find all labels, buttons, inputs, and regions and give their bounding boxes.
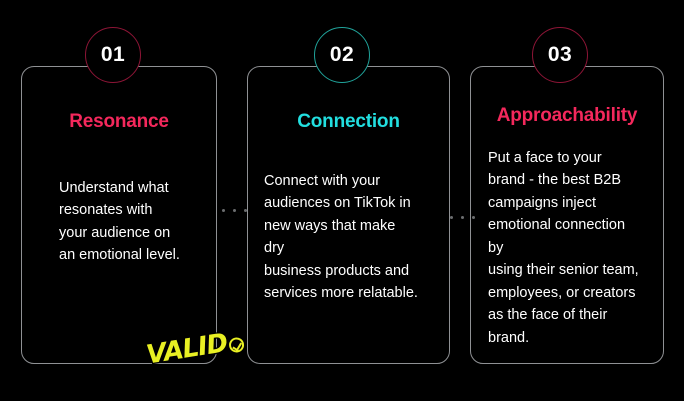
card-title-resonance: Resonance [22,111,216,133]
step-number-badge-02: 02 [314,27,370,83]
card-body-approachability: Put a face to your brand - the best B2B … [488,147,655,349]
step-card-resonance[interactable]: Resonance Understand what resonates with… [21,66,217,364]
card-body-resonance: Understand what resonates with your audi… [59,177,200,267]
connector-dots-1-2 [222,209,247,212]
step-number-badge-01: 01 [85,27,141,83]
connector-dot [472,216,475,219]
card-title-connection: Connection [248,111,449,133]
connector-dot [461,216,464,219]
step-card-approachability[interactable]: Approachability Put a face to your brand… [470,66,664,364]
check-circle-icon [228,336,245,353]
step-card-connection[interactable]: Connection Connect with your audiences o… [247,66,450,364]
card-body-connection: Connect with your audiences on TikTok in… [264,170,437,305]
slide-canvas: Resonance Understand what resonates with… [0,0,684,401]
connector-dots-2-3 [450,216,475,219]
connector-dot [233,209,236,212]
connector-dot [244,209,247,212]
card-title-approachability: Approachability [471,105,663,127]
connector-dot [222,209,225,212]
connector-dot [450,216,453,219]
step-number-badge-03: 03 [532,27,588,83]
